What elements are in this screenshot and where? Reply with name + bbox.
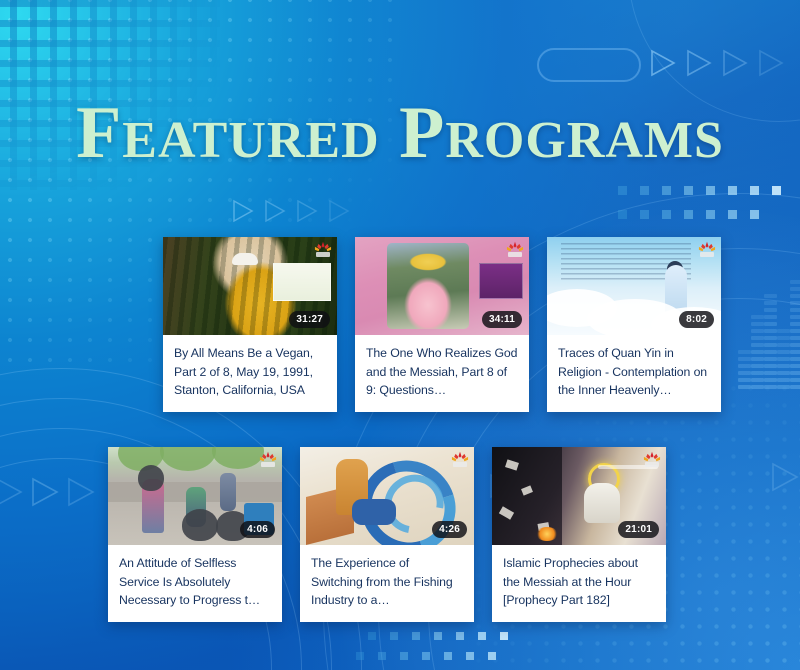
equalizer-segment	[738, 385, 751, 389]
equalizer-column	[764, 294, 777, 392]
play-triangle-icon-ll-3	[64, 475, 98, 509]
decorative-square	[750, 210, 759, 219]
equalizer-segment	[790, 315, 800, 319]
equalizer-segment	[751, 329, 764, 333]
lotus-emblem-logo-icon	[698, 241, 716, 257]
featured-card-row-1: 31:27 By All Means Be a Vegan, Part 2 of…	[163, 237, 721, 412]
play-triangle-icon-ll-1	[0, 475, 26, 509]
decorative-square	[772, 186, 781, 195]
thumbnail-detail	[479, 263, 523, 299]
thumbnail-detail	[584, 483, 620, 523]
equalizer-segment	[790, 343, 800, 347]
lotus-emblem-logo-icon	[314, 241, 332, 257]
equalizer-column	[790, 280, 800, 392]
program-card[interactable]: 21:01 Islamic Prophecies about the Messi…	[492, 447, 666, 622]
equalizer-segment	[764, 357, 777, 361]
play-triangle-icon-tr-3	[720, 48, 750, 78]
featured-card-row-2: 4:06 An Attitude of Selfless Service Is …	[108, 447, 666, 622]
decorative-square	[684, 210, 693, 219]
equalizer-column	[751, 315, 764, 392]
decorative-square	[618, 186, 627, 195]
decorative-square	[478, 632, 486, 640]
equalizer-segment	[790, 301, 800, 305]
play-triangle-icon-r-1	[768, 460, 800, 494]
decorative-square	[466, 652, 474, 660]
equalizer-segment	[751, 378, 764, 382]
thumbnail-detail	[387, 243, 469, 329]
duration-badge: 4:06	[240, 521, 275, 539]
equalizer-segment	[751, 357, 764, 361]
equalizer-segment	[751, 322, 764, 326]
pill-outline-shape	[537, 48, 641, 82]
thumbnail-detail	[232, 253, 258, 265]
equalizer-segment	[751, 371, 764, 375]
card-thumbnail[interactable]: 4:06	[108, 447, 282, 545]
thumbnail-detail	[352, 499, 396, 525]
equalizer-segment	[738, 350, 751, 354]
equalizer-segment	[764, 350, 777, 354]
decorative-square	[662, 186, 671, 195]
lotus-emblem-logo-icon	[451, 451, 469, 467]
card-thumbnail[interactable]: 34:11	[355, 237, 529, 335]
play-triangle-icon-ml-1	[230, 198, 256, 224]
thumbnail-detail	[536, 527, 558, 541]
decorative-square	[390, 632, 398, 640]
decorative-square	[706, 210, 715, 219]
equalizer-column	[777, 329, 790, 392]
equalizer-segment	[738, 371, 751, 375]
play-triangle-icon-ml-3	[294, 198, 320, 224]
equalizer-segment	[790, 378, 800, 382]
equalizer-segment	[751, 343, 764, 347]
card-thumbnail[interactable]: 21:01	[492, 447, 666, 545]
duration-badge: 31:27	[289, 311, 330, 329]
equalizer-segment	[790, 364, 800, 368]
logo-plate	[645, 462, 659, 467]
card-title[interactable]: The Experience of Switching from the Fis…	[300, 545, 474, 622]
page-title: Featured Programs	[0, 96, 800, 170]
equalizer-column	[738, 350, 751, 392]
logo-plate	[700, 252, 714, 257]
decorative-square	[750, 186, 759, 195]
decorative-square	[368, 632, 376, 640]
equalizer-segment	[751, 385, 764, 389]
thumbnail-detail	[138, 465, 164, 491]
logo-plate	[508, 252, 522, 257]
equalizer-segment	[751, 364, 764, 368]
equalizer-segment	[764, 308, 777, 312]
card-title[interactable]: Islamic Prophecies about the Messiah at …	[492, 545, 666, 622]
card-title[interactable]: An Attitude of Selfless Service Is Absol…	[108, 545, 282, 622]
equalizer-segment	[764, 294, 777, 298]
equalizer-segment	[777, 378, 790, 382]
decorative-square	[728, 186, 737, 195]
duration-badge: 8:02	[679, 311, 714, 329]
equalizer-segment	[790, 336, 800, 340]
thumbnail-detail	[182, 509, 218, 541]
equalizer-segment	[790, 308, 800, 312]
equalizer-segment	[777, 343, 790, 347]
thumbnail-detail	[220, 473, 236, 511]
play-triangle-icon-tr-2	[684, 48, 714, 78]
equalizer-segment	[790, 371, 800, 375]
lotus-emblem-logo-icon	[506, 241, 524, 257]
decorative-square	[500, 632, 508, 640]
equalizer-segment	[738, 364, 751, 368]
decorative-square	[456, 632, 464, 640]
logo-plate	[453, 462, 467, 467]
equalizer-segment	[790, 280, 800, 284]
equalizer-segment	[764, 378, 777, 382]
decorative-square	[488, 652, 496, 660]
equalizer-segment	[764, 315, 777, 319]
play-triangle-icon-tr-4	[756, 48, 786, 78]
equalizer-segment	[790, 350, 800, 354]
logo-plate	[316, 252, 330, 257]
equalizer-segment	[777, 329, 790, 333]
equalizer-segment	[790, 385, 800, 389]
decorative-square	[412, 632, 420, 640]
play-triangle-icon-ml-4	[326, 198, 352, 224]
equalizer-segment	[751, 350, 764, 354]
card-title[interactable]: Traces of Quan Yin in Religion - Contemp…	[547, 335, 721, 412]
equalizer-segment	[790, 322, 800, 326]
duration-badge: 21:01	[618, 521, 659, 539]
equalizer-segment	[751, 315, 764, 319]
decorative-square	[684, 186, 693, 195]
card-title[interactable]: The One Who Realizes God and the Messiah…	[355, 335, 529, 412]
equalizer-segment	[777, 336, 790, 340]
equalizer-segment	[764, 336, 777, 340]
equalizer-segment	[790, 287, 800, 291]
equalizer-segment	[777, 385, 790, 389]
program-card[interactable]: 4:26 The Experience of Switching from th…	[300, 447, 474, 622]
program-card[interactable]: 4:06 An Attitude of Selfless Service Is …	[108, 447, 282, 622]
card-thumbnail[interactable]: 8:02	[547, 237, 721, 335]
thumbnail-detail	[212, 447, 264, 469]
equalizer-segment	[790, 294, 800, 298]
card-thumbnail[interactable]: 31:27	[163, 237, 337, 335]
program-card[interactable]: 34:11 The One Who Realizes God and the M…	[355, 237, 529, 412]
decorative-square	[640, 210, 649, 219]
equalizer-segment	[764, 371, 777, 375]
equalizer-segment	[777, 364, 790, 368]
decorative-square	[356, 652, 364, 660]
equalizer-segment	[764, 364, 777, 368]
play-triangle-icon-ml-2	[262, 198, 288, 224]
decorative-square	[444, 652, 452, 660]
equalizer-segment	[777, 357, 790, 361]
play-triangle-icon-tr-1	[648, 48, 678, 78]
decorative-square	[706, 186, 715, 195]
featured-programs-banner: Featured Programs 31:27 By All Means Be …	[0, 0, 800, 670]
equalizer-segment	[764, 322, 777, 326]
program-card[interactable]: 31:27 By All Means Be a Vegan, Part 2 of…	[163, 237, 337, 412]
equalizer-segment	[777, 350, 790, 354]
lotus-emblem-logo-icon	[259, 451, 277, 467]
decorative-square	[422, 652, 430, 660]
equalizer-segment	[790, 357, 800, 361]
logo-plate	[261, 462, 275, 467]
equalizer-bars-decoration	[738, 300, 800, 392]
program-card[interactable]: 8:02 Traces of Quan Yin in Religion - Co…	[547, 237, 721, 412]
decorative-square	[400, 652, 408, 660]
equalizer-segment	[738, 378, 751, 382]
decorative-square	[434, 632, 442, 640]
equalizer-segment	[764, 329, 777, 333]
decorative-square	[378, 652, 386, 660]
equalizer-segment	[751, 336, 764, 340]
equalizer-segment	[764, 343, 777, 347]
thumbnail-detail	[273, 263, 331, 301]
equalizer-segment	[738, 357, 751, 361]
equalizer-segment	[764, 301, 777, 305]
lotus-emblem-logo-icon	[643, 451, 661, 467]
decorative-square	[640, 186, 649, 195]
decorative-square	[618, 210, 627, 219]
thumbnail-detail	[160, 447, 216, 471]
equalizer-segment	[790, 329, 800, 333]
play-triangle-icon-ll-2	[28, 475, 62, 509]
card-thumbnail[interactable]: 4:26	[300, 447, 474, 545]
card-title[interactable]: By All Means Be a Vegan, Part 2 of 8, Ma…	[163, 335, 337, 412]
equalizer-segment	[764, 385, 777, 389]
duration-badge: 34:11	[482, 311, 522, 329]
duration-badge: 4:26	[432, 521, 467, 539]
equalizer-segment	[777, 371, 790, 375]
decorative-square	[728, 210, 737, 219]
decorative-square	[662, 210, 671, 219]
